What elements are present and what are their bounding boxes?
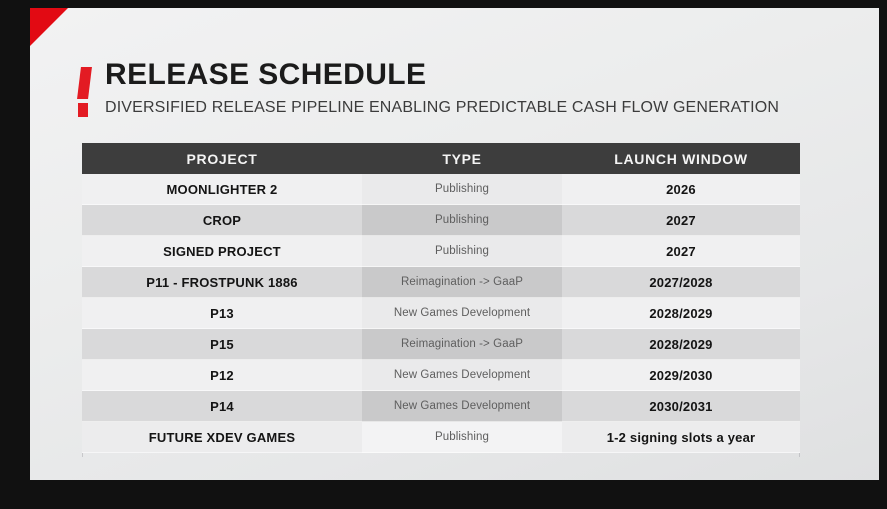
page-subtitle: DIVERSIFIED RELEASE PIPELINE ENABLING PR… <box>105 99 779 117</box>
cell-type: Publishing <box>362 236 562 267</box>
cell-project: CROP <box>82 205 362 236</box>
cell-type: Publishing <box>362 174 562 205</box>
cell-launch-window: 2030/2031 <box>562 391 800 422</box>
cell-type: Publishing <box>362 205 562 236</box>
table-row: FUTURE XDEV GAMESPublishing1-2 signing s… <box>82 422 800 453</box>
cell-launch-window: 2029/2030 <box>562 360 800 391</box>
cell-type: Publishing <box>362 422 562 453</box>
cell-project: SIGNED PROJECT <box>82 236 362 267</box>
cell-project: P13 <box>82 298 362 329</box>
cell-type: New Games Development <box>362 391 562 422</box>
release-schedule-table: PROJECT TYPE LAUNCH WINDOW MOONLIGHTER 2… <box>82 143 800 453</box>
cell-project: P11 - FROSTPUNK 1886 <box>82 267 362 298</box>
table-row: MOONLIGHTER 2Publishing2026 <box>82 174 800 205</box>
cell-project: MOONLIGHTER 2 <box>82 174 362 205</box>
table-header: PROJECT TYPE LAUNCH WINDOW <box>82 143 800 174</box>
cell-launch-window: 2027 <box>562 205 800 236</box>
column-header-launch-window: LAUNCH WINDOW <box>562 143 800 174</box>
cell-launch-window: 2028/2029 <box>562 298 800 329</box>
cell-project: P12 <box>82 360 362 391</box>
cell-launch-window: 2027/2028 <box>562 267 800 298</box>
table-row: P15Reimagination -> GaaP2028/2029 <box>82 329 800 360</box>
cell-type: New Games Development <box>362 360 562 391</box>
column-header-type: TYPE <box>362 143 562 174</box>
cell-type: New Games Development <box>362 298 562 329</box>
cell-type: Reimagination -> GaaP <box>362 267 562 298</box>
cell-launch-window: 1-2 signing slots a year <box>562 422 800 453</box>
table-row: CROPPublishing2027 <box>82 205 800 236</box>
table-body: MOONLIGHTER 2Publishing2026CROPPublishin… <box>82 174 800 453</box>
title-block: RELEASE SCHEDULE DIVERSIFIED RELEASE PIP… <box>78 63 858 99</box>
corner-triangle-decoration <box>30 8 68 46</box>
cell-project: P14 <box>82 391 362 422</box>
presentation-slide: RELEASE SCHEDULE DIVERSIFIED RELEASE PIP… <box>30 8 879 480</box>
column-header-project: PROJECT <box>82 143 362 174</box>
table-row: P14New Games Development2030/2031 <box>82 391 800 422</box>
cell-launch-window: 2027 <box>562 236 800 267</box>
table-header-row: PROJECT TYPE LAUNCH WINDOW <box>82 143 800 174</box>
cell-project: P15 <box>82 329 362 360</box>
page-title: RELEASE SCHEDULE <box>105 58 426 92</box>
table-row: P11 - FROSTPUNK 1886Reimagination -> Gaa… <box>82 267 800 298</box>
exclamation-accent-icon <box>78 67 90 119</box>
table-row: P12New Games Development2029/2030 <box>82 360 800 391</box>
cell-project: FUTURE XDEV GAMES <box>82 422 362 453</box>
screen-frame: RELEASE SCHEDULE DIVERSIFIED RELEASE PIP… <box>0 0 887 509</box>
accent-bar-shape <box>77 67 92 99</box>
table-row: SIGNED PROJECTPublishing2027 <box>82 236 800 267</box>
cell-launch-window: 2028/2029 <box>562 329 800 360</box>
cell-type: Reimagination -> GaaP <box>362 329 562 360</box>
cell-launch-window: 2026 <box>562 174 800 205</box>
table-row: P13New Games Development2028/2029 <box>82 298 800 329</box>
accent-dot-shape <box>78 103 88 117</box>
title-row: RELEASE SCHEDULE DIVERSIFIED RELEASE PIP… <box>78 63 858 99</box>
